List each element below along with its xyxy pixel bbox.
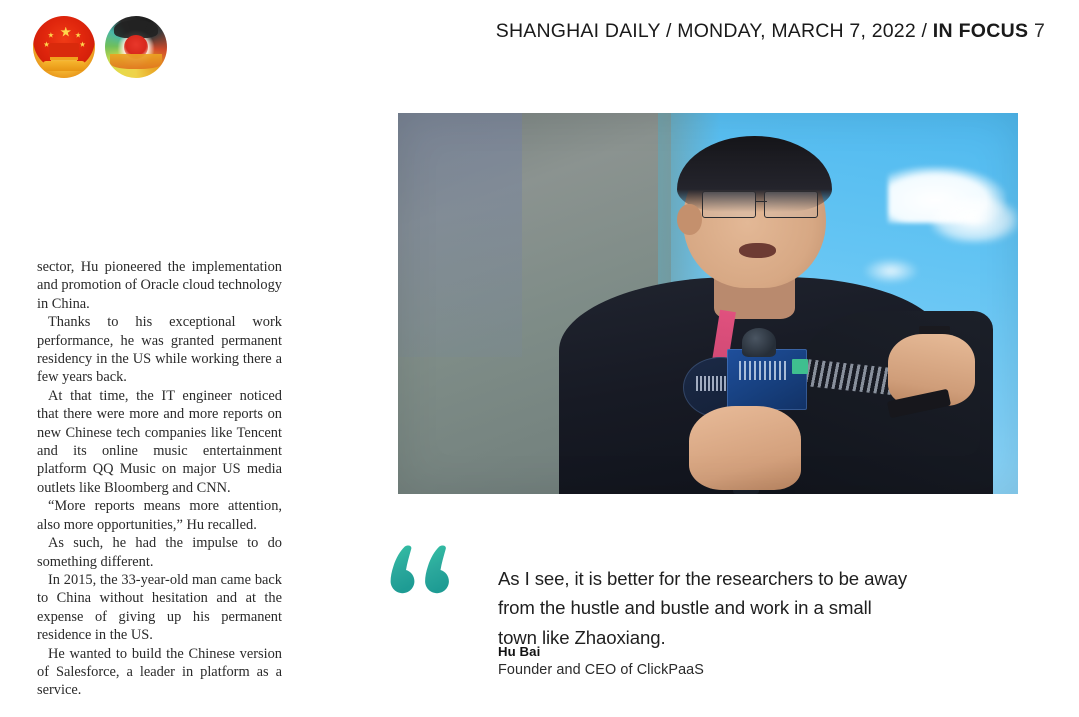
page-masthead: SHANGHAI DAILY / MONDAY, MARCH 7, 2022 /…	[0, 0, 1079, 96]
article-paragraph: “More reports means more attention, also…	[37, 497, 282, 534]
publication-name: SHANGHAI DAILY	[496, 20, 661, 42]
emblem-group	[33, 16, 167, 78]
article-paragraph: In 2015, the 33-year-old man came back t…	[37, 571, 282, 645]
article-paragraph: He wanted to build the Chinese version o…	[37, 645, 282, 700]
national-emblem-of-china-icon	[33, 16, 95, 78]
article-paragraph: At that time, the IT engineer noticed th…	[37, 387, 282, 497]
article-photo	[398, 113, 1018, 494]
emblem-large-star-icon	[60, 27, 71, 38]
masthead-separator-1: /	[660, 20, 677, 42]
pull-quote-author-name: Hu Bai	[498, 643, 910, 660]
quotation-mark-icon	[380, 542, 454, 612]
photo-vignette	[398, 113, 1018, 494]
cppcc-emblem-icon	[105, 16, 167, 78]
article-paragraph: As such, he had the impulse to do someth…	[37, 534, 282, 571]
section-name: IN FOCUS	[933, 20, 1029, 42]
pull-quote-text: As I see, it is better for the researche…	[498, 564, 910, 653]
emblem-small-star-icon	[75, 32, 81, 38]
emblem-tiananmen-gate-icon	[49, 43, 79, 57]
emblem-small-star-icon	[80, 41, 86, 47]
masthead-headline: SHANGHAI DAILY / MONDAY, MARCH 7, 2022 /…	[496, 20, 1045, 43]
pull-quote-attribution: Hu Bai Founder and CEO of ClickPaaS	[498, 643, 910, 680]
article-paragraph: Thanks to his exceptional work performan…	[37, 313, 282, 387]
pull-quote-author-role: Founder and CEO of ClickPaaS	[498, 660, 910, 680]
publication-date: MONDAY, MARCH 7, 2022	[677, 20, 916, 42]
masthead-separator-2: /	[916, 20, 933, 42]
article-body-column: sector, Hu pioneered the implementation …	[37, 258, 282, 700]
emblem-base-icon	[43, 61, 85, 71]
emblem-small-star-icon	[48, 32, 54, 38]
cppcc-emblem-band-icon	[110, 54, 162, 69]
article-paragraph: sector, Hu pioneered the implementation …	[37, 258, 282, 313]
page-number: 7	[1034, 20, 1045, 42]
